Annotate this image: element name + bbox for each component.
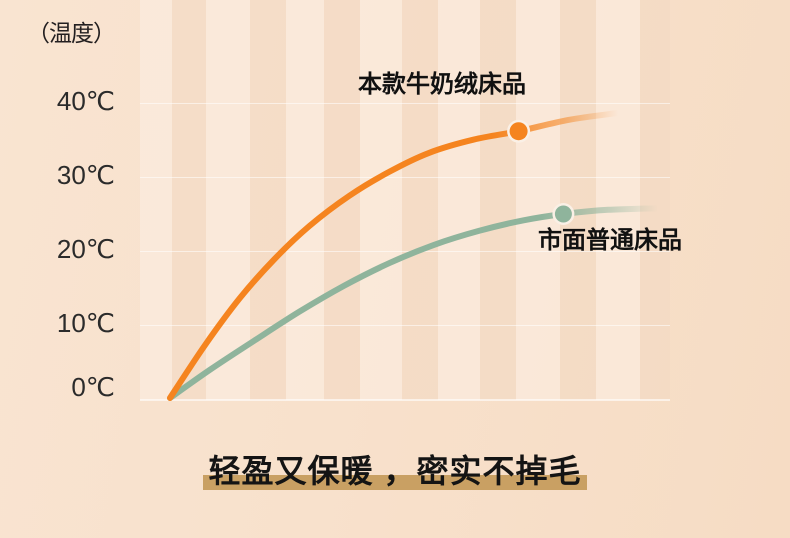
caption-text: 轻盈又保暖 ，密实不掉毛 <box>209 453 582 489</box>
data-point-milk-fleece[interactable] <box>510 122 528 140</box>
chart-canvas: （温度） 40℃ 30℃ 20℃ 10℃ 0℃ <box>0 0 790 538</box>
series-label-ordinary-bedding: 市面普通床品 <box>538 220 682 255</box>
caption-highlight-group: 轻盈又保暖 ，密实不掉毛 <box>209 446 582 492</box>
caption-area: 轻盈又保暖 ，密实不掉毛 <box>0 446 790 492</box>
series-label-milk-fleece-bedding: 本款牛奶绒床品 <box>358 64 526 99</box>
